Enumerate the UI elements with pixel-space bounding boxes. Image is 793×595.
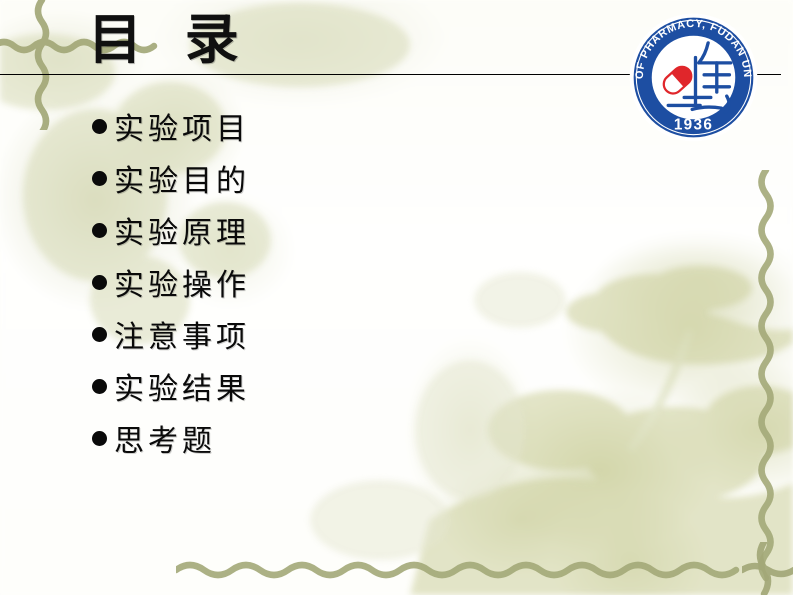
toc-item-label: 实验目的 — [114, 156, 250, 200]
toc-item-label: 实验操作 — [114, 260, 250, 304]
toc-item-label: 实验项目 — [114, 104, 250, 148]
filled-circle-bullet-icon — [92, 171, 107, 186]
logo-year-text: 1936 — [674, 116, 713, 133]
toc-item-shiyan-mude[interactable]: 实验目的 — [92, 152, 512, 204]
toc-item-shiyan-jieguo[interactable]: 实验结果 — [92, 360, 512, 412]
toc-item-label: 注意事项 — [114, 312, 250, 356]
toc-item-label: 实验原理 — [114, 208, 250, 252]
toc-item-label: 实验结果 — [114, 364, 250, 408]
filled-circle-bullet-icon — [92, 119, 107, 134]
toc-item-shiyan-caozuo[interactable]: 实验操作 — [92, 256, 512, 308]
filled-circle-bullet-icon — [92, 275, 107, 290]
decorative-wave-right — [748, 170, 784, 582]
fudan-school-of-pharmacy-logo: SCHOOL OF PHARMACY, FUDAN UNIVERSITY 193… — [627, 11, 760, 144]
filled-circle-bullet-icon — [92, 327, 107, 342]
presentation-slide: 目 录 实验项目 实验目的 实验原理 实验操作 注意事项 实验结果 — [0, 0, 793, 595]
decorative-cross-bottom-right — [742, 542, 793, 595]
toc-item-label: 思考题 — [114, 416, 216, 460]
filled-circle-bullet-icon — [92, 223, 107, 238]
page-title: 目 录 — [88, 8, 251, 70]
table-of-contents-list: 实验项目 实验目的 实验原理 实验操作 注意事项 实验结果 思考题 — [92, 100, 512, 464]
toc-item-sikaoti[interactable]: 思考题 — [92, 412, 512, 464]
toc-item-shiyan-xiangmu[interactable]: 实验项目 — [92, 100, 512, 152]
decorative-wave-bottom — [176, 552, 793, 588]
filled-circle-bullet-icon — [92, 431, 107, 446]
toc-item-shiyan-yuanli[interactable]: 实验原理 — [92, 204, 512, 256]
filled-circle-bullet-icon — [92, 379, 107, 394]
toc-item-zhuyi-shixiang[interactable]: 注意事项 — [92, 308, 512, 360]
